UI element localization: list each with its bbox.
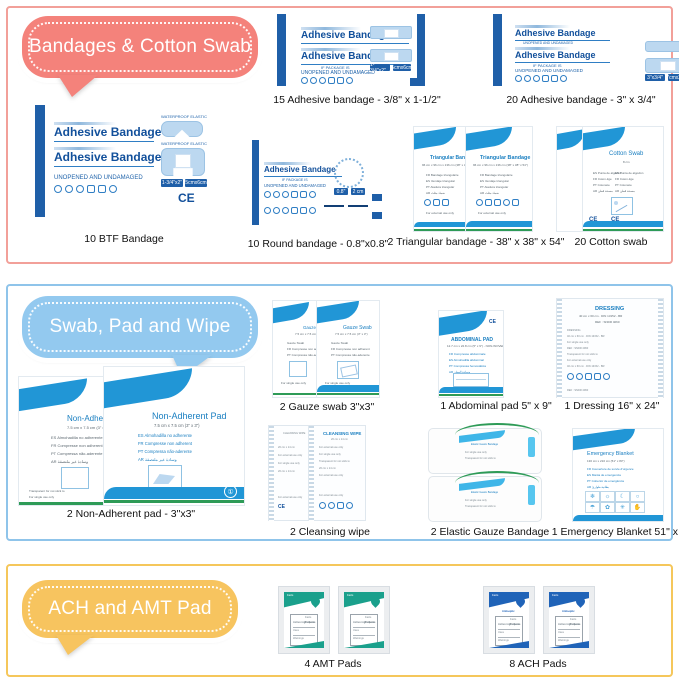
lang-pt: PT Cobertor de emergência bbox=[587, 479, 624, 483]
snowflake-icon: ❄ bbox=[585, 491, 600, 502]
uses-label: Uses bbox=[293, 629, 299, 632]
divider bbox=[54, 141, 154, 142]
flower-icon: ✿ bbox=[600, 502, 615, 513]
butterfly-bandage-shape bbox=[161, 121, 203, 137]
fineprint-line: Transparent for not stick to bbox=[567, 353, 598, 356]
ce-mark-icon: CE bbox=[178, 191, 195, 205]
care-symbols bbox=[54, 185, 117, 193]
serrated-edge-left bbox=[557, 299, 562, 399]
usage-note: For external use only bbox=[478, 211, 506, 215]
sachet-face: Facts Antiseptic Facts Active ingredient… bbox=[489, 592, 529, 648]
facts-box: Facts Active ingredients Purpose Uses Wa… bbox=[495, 616, 523, 646]
package-note-unopened: UNOPENED AND UNDAMAGED bbox=[515, 68, 583, 73]
lang-fr-left: FR Coton-tige bbox=[593, 177, 612, 181]
package-note-if: IF PACKAGE IS bbox=[282, 178, 308, 182]
package-title: Non-Adherent Pad bbox=[152, 411, 227, 421]
care-icon bbox=[512, 199, 519, 206]
pillow-pack: Elastic Gauze Bandage For single use onl… bbox=[428, 476, 542, 522]
care-icon bbox=[87, 185, 95, 193]
lang-ar: AR وسادة غير ملتصقة bbox=[138, 457, 177, 462]
care-icon bbox=[476, 199, 483, 206]
care-symbols bbox=[567, 373, 610, 380]
purpose-label: Purpose bbox=[305, 621, 315, 624]
lang-es: ES Almohadilla no adherente bbox=[51, 435, 103, 440]
lang-es: Gauze Swab bbox=[287, 341, 304, 345]
package-card-back: Non-Adherent Pad 7.5 cm x 7.5 cm (3" x 3… bbox=[18, 376, 110, 506]
care-icon bbox=[567, 373, 574, 380]
uses-label: Uses bbox=[498, 631, 504, 634]
package-note-unopened: UNOPENED AND UNDAMAGED bbox=[264, 183, 326, 188]
care-icon bbox=[309, 191, 316, 198]
package-title: Emergency Blanket bbox=[587, 451, 634, 457]
pillow-pack: Elastic Gauze Bandage For single use onl… bbox=[428, 428, 542, 474]
care-icon bbox=[319, 77, 326, 84]
brand-mark: Facts bbox=[287, 594, 293, 597]
lang-fr: FR Compresse non adherent bbox=[51, 443, 103, 448]
package-title: Cotton Swab bbox=[609, 151, 643, 157]
package-card: Cotton Swab 8 cm ES Punta de algodón ES … bbox=[582, 126, 664, 232]
package-size: 20 cm x 14 cm bbox=[331, 438, 348, 441]
lang-pt: PT Compressa hemostática bbox=[449, 364, 486, 368]
package-size: 12.7 cm x 22.8 cm (5" x 9") - NON-WOVEN bbox=[447, 344, 504, 348]
divider bbox=[301, 43, 409, 44]
product-8-ach-pads: Facts Antiseptic Facts Active ingredient… bbox=[483, 586, 601, 670]
rain-icon: ☂ bbox=[585, 502, 600, 513]
footer-green-line bbox=[104, 500, 244, 503]
product-caption: 1 Abdominal pad 5" x 9" bbox=[440, 400, 551, 412]
package-card: Adhesive Bandage Adhesive Bandage IF PAC… bbox=[277, 14, 432, 86]
serrated-edge-left bbox=[269, 426, 274, 522]
care-icon bbox=[291, 191, 298, 198]
lang-pt: PT Atadura triangular bbox=[480, 185, 508, 189]
bandage-pad bbox=[384, 52, 399, 61]
package-size: 96 cm x 96 cm x 136 cm (38" x 38" x 54") bbox=[473, 163, 528, 167]
section-title-bubble-ach: ACH and AMT Pad bbox=[22, 580, 238, 638]
moon-icon: ☾ bbox=[615, 491, 630, 502]
lang-es: ES Vendaje triangular bbox=[426, 179, 455, 183]
lang-pt: PT Compressa não-aderente bbox=[331, 353, 370, 357]
care-icon bbox=[551, 75, 558, 82]
circle-icon: ○ bbox=[630, 491, 645, 502]
product-name: Antiseptic bbox=[502, 610, 515, 613]
package-fineprint: UNOPENED AND UNDAMAGED bbox=[523, 41, 573, 45]
lang-pt: PT Compressa não-aderente bbox=[138, 449, 192, 454]
swab-tip bbox=[614, 201, 618, 205]
product-caption: 1 Dressing 16" x 24" bbox=[564, 400, 659, 412]
care-icon bbox=[109, 185, 117, 193]
facts-rule bbox=[558, 629, 580, 630]
care-icon bbox=[560, 75, 567, 82]
product-1-dressing: DRESSING 40 cm x 60 cm · DIN 13152 - BR … bbox=[556, 298, 674, 412]
product-4-amt-pads: Facts Facts Active ingredients Purpose U… bbox=[278, 586, 396, 670]
swab-stick bbox=[616, 205, 628, 212]
sachet-ach: Facts Antiseptic Facts Active ingredient… bbox=[483, 586, 535, 654]
size-swatch: 0.8" bbox=[334, 188, 348, 195]
lang-pt: PT Atadura triangular bbox=[426, 185, 454, 189]
care-icon bbox=[310, 77, 317, 84]
package-title: CLEANSING WIPE bbox=[283, 432, 305, 435]
size-swatch: 2 cm bbox=[351, 188, 365, 195]
product-1-emergency-blanket: Emergency Blanket 130 cm x 210 cm (51" x… bbox=[572, 428, 679, 536]
product-caption: 2 Gauze swab 3"x3" bbox=[280, 401, 374, 413]
divider bbox=[324, 205, 344, 207]
warnings-label: Warnings bbox=[353, 637, 364, 640]
size-swatch: 1-3/4"x2" bbox=[161, 179, 183, 187]
bandage-strip-shape bbox=[370, 49, 412, 62]
care-symbols bbox=[424, 199, 449, 206]
package-title: Gauze Swab bbox=[343, 325, 372, 331]
care-icon bbox=[282, 191, 289, 198]
package-note-unopened: UNOPENED AND UNDAMAGED bbox=[54, 175, 143, 181]
footer-swoosh bbox=[583, 221, 663, 227]
waterproof-label: WATERPROOF ELASTIC bbox=[161, 141, 207, 146]
package-card-back: Gauze Swab 7.5 cm x 7.5 cm (3" x 3") Gau… bbox=[272, 300, 322, 398]
lang-fr: FR Bandage triangulaire bbox=[480, 173, 513, 177]
gauze-shape bbox=[340, 364, 358, 377]
care-icon bbox=[485, 199, 492, 206]
facts-rule bbox=[558, 637, 580, 638]
bandage-strip-shape bbox=[645, 41, 679, 52]
lang-fr: FR Couverture de survie d'urgence bbox=[587, 467, 634, 471]
divider bbox=[54, 166, 154, 167]
product-caption: 1 Emergency Blanket 51" x 83" bbox=[552, 526, 679, 538]
size-block bbox=[372, 194, 382, 201]
size-block bbox=[372, 212, 382, 219]
care-icon bbox=[533, 75, 540, 82]
lang-ar: AR ضماد مثلث bbox=[426, 191, 445, 195]
lang-pt: PT Cotonete bbox=[615, 183, 632, 187]
care-symbols bbox=[319, 502, 353, 509]
fineprint-line: For single use only bbox=[465, 499, 487, 502]
care-icon bbox=[273, 207, 280, 214]
care-icon bbox=[328, 502, 335, 509]
package-spine bbox=[277, 14, 286, 86]
serrated-edge-right bbox=[658, 299, 663, 399]
section-title-bubble-bandages: Bandages & Cotton Swab bbox=[22, 16, 258, 78]
sachet-amt: Facts Facts Active ingredients Purpose U… bbox=[338, 586, 390, 654]
gauze-illustration bbox=[289, 361, 307, 377]
package-spine bbox=[252, 140, 259, 225]
pad-illustration bbox=[453, 373, 489, 387]
fineprint-line: For external use only bbox=[319, 474, 343, 477]
product-caption: 10 Round bandage - 0.8"x0.8" bbox=[248, 238, 389, 250]
swoosh-arc bbox=[413, 126, 471, 156]
package-size: 8 cm bbox=[623, 160, 630, 164]
bandage-pad bbox=[175, 154, 191, 168]
lang-fr: FR Compresse non adherent bbox=[331, 347, 370, 351]
care-icon bbox=[337, 77, 344, 84]
product-caption: 10 BTF Bandage bbox=[84, 233, 163, 245]
purpose-label: Purpose bbox=[365, 621, 375, 624]
package-card: Gauze Swab 7.5 cm x 7.5 cm (3" x 3") Gau… bbox=[316, 300, 380, 398]
care-icon bbox=[603, 373, 610, 380]
care-icon bbox=[503, 199, 510, 206]
product-caption: 20 Adhesive bandage - 3" x 3/4" bbox=[506, 94, 655, 106]
package-title: Adhesive Bandage bbox=[54, 150, 161, 164]
lang-pt: PT Compressa não-aderente bbox=[51, 451, 103, 456]
section-title-bandages: Bandages & Cotton Swab bbox=[29, 36, 251, 58]
lang-es: ES Manta de emergencia bbox=[587, 473, 621, 477]
ce-mark-icon: CE bbox=[278, 504, 285, 510]
ce-mark-icon: CE bbox=[489, 319, 496, 325]
fineprint-line: REF : SNDR 4060 bbox=[567, 347, 588, 350]
package-size: 40 cm x 60 cm · DIN 13152 - BR bbox=[579, 314, 622, 318]
package-title: Triangular Bandage bbox=[480, 155, 530, 161]
bubble-tail bbox=[58, 75, 98, 97]
care-icon bbox=[433, 199, 440, 206]
footer-swoosh bbox=[414, 222, 470, 227]
section-title-swab: Swab, Pad and Wipe bbox=[49, 316, 230, 338]
product-caption: 4 AMT Pads bbox=[304, 658, 361, 670]
footer-green-line bbox=[414, 229, 470, 231]
care-symbols bbox=[476, 199, 519, 206]
divider bbox=[348, 205, 368, 207]
footer-swoosh bbox=[317, 385, 379, 392]
lang-fr: FR Compresse non adherent bbox=[138, 441, 192, 446]
fineprint-line: 20 cm x 14 cm bbox=[278, 470, 295, 473]
care-symbols bbox=[264, 191, 316, 198]
package-title: Adhesive Bandage bbox=[264, 165, 336, 174]
care-icon bbox=[98, 185, 106, 193]
care-icon bbox=[515, 75, 522, 82]
product-10-btf-bandage: Adhesive Bandage Adhesive Bandage UNOPEN… bbox=[35, 105, 220, 250]
package-card: Adhesive Bandage Adhesive Bandage UNOPEN… bbox=[35, 105, 213, 217]
footer-swoosh bbox=[466, 221, 532, 227]
brand-mark: Facts bbox=[492, 594, 498, 597]
facts-rule bbox=[498, 629, 520, 630]
size-swatch: 5cmx6cm bbox=[185, 179, 207, 187]
care-icon bbox=[576, 373, 583, 380]
swoosh-shape bbox=[556, 129, 585, 151]
size-swatch: 1-3/4"x2" bbox=[370, 64, 390, 71]
purpose-label: Purpose bbox=[510, 623, 520, 626]
footer-swoosh bbox=[573, 515, 663, 521]
product-name: Antiseptic bbox=[562, 610, 575, 613]
pack-tab bbox=[528, 437, 535, 457]
purpose-label: Purpose bbox=[570, 623, 580, 626]
product-2-triangular-bandage: Triangular Bandage 96 cm x 96 cm x 136 c… bbox=[413, 126, 543, 251]
package-title: Adhesive Bandage bbox=[515, 28, 596, 38]
footer-green-line bbox=[317, 393, 379, 395]
divider bbox=[264, 176, 342, 177]
bandage-strip-shape bbox=[645, 58, 679, 73]
care-icon bbox=[273, 191, 280, 198]
facts-rule bbox=[293, 635, 315, 636]
package-size: 7.5 cm x 7.5 cm (3" x 3") bbox=[154, 423, 200, 428]
footer-green-line bbox=[466, 229, 532, 231]
package-card: DRESSING 40 cm x 60 cm · DIN 13152 - BR … bbox=[556, 298, 664, 398]
package-size: 7.5 cm x 7.5 cm (3" x 3") bbox=[335, 332, 368, 336]
product-caption: 8 ACH Pads bbox=[509, 658, 566, 670]
fineprint-line: DRESSING bbox=[567, 329, 581, 332]
bubble-tail bbox=[56, 635, 94, 655]
uses-label: Uses bbox=[558, 631, 564, 634]
size-swatch: 3"x3/4" bbox=[645, 74, 665, 81]
care-icon bbox=[309, 207, 316, 214]
care-icon bbox=[594, 373, 601, 380]
package-card: Adhesive Bandage IF PACKAGE IS UNOPENED … bbox=[252, 150, 382, 225]
fineprint-line: For external use only bbox=[278, 454, 302, 457]
care-icon bbox=[264, 207, 271, 214]
lang-fr: FR Coton-tige bbox=[615, 177, 634, 181]
brand-mark: Facts bbox=[552, 594, 558, 597]
size-swatch: 7cmx2cm bbox=[668, 74, 679, 81]
swab-illustration bbox=[611, 197, 633, 215]
size-swatch: 5cmx6cm bbox=[393, 64, 411, 71]
package-title: DRESSING bbox=[595, 306, 624, 312]
package-note: Transparent for not stick to bbox=[29, 489, 65, 493]
product-20-cotton-swab: Cotton Swab 8 cm ES Punta de algodón ES … bbox=[556, 126, 671, 251]
package-title: Adhesive Bandage bbox=[515, 50, 596, 60]
package-card-back: CLEANSING WIPE 20 cm x 14 cm For externa… bbox=[268, 425, 312, 521]
sachet-ach: Facts Antiseptic Facts Active ingredient… bbox=[543, 586, 595, 654]
package-title: Elastic Gauze Bandage bbox=[471, 443, 498, 446]
fineprint-line: For external use only bbox=[319, 446, 343, 449]
lang-ar: AR ضماد مثلث bbox=[480, 191, 499, 195]
lang-es: Gauze Swab bbox=[331, 341, 348, 345]
facts-title: Facts bbox=[570, 618, 576, 621]
usage-note: For external use only bbox=[319, 494, 343, 497]
package-card: Triangular Bandage 96 cm x 96 cm x 136 c… bbox=[465, 126, 533, 232]
serrated-edge-left bbox=[309, 426, 314, 522]
care-symbols bbox=[301, 77, 353, 84]
divider bbox=[515, 62, 610, 63]
facts-rule bbox=[498, 637, 520, 638]
fineprint-line: 40 cm x 60 cm · DIN 13152 - BR bbox=[567, 365, 604, 368]
usage-note: For external use only bbox=[426, 211, 454, 215]
package-spine bbox=[35, 105, 45, 217]
facts-box: Facts Active ingredients Purpose Uses Wa… bbox=[350, 614, 378, 646]
product-caption: 2 Non-Adherent pad - 3"x3" bbox=[67, 508, 195, 520]
product-2-elastic-gauze-bandage: Elastic Gauze Bandage For single use onl… bbox=[420, 428, 565, 536]
care-icon bbox=[65, 185, 73, 193]
product-2-cleansing-wipe: CLEANSING WIPE 20 cm x 14 cm For externa… bbox=[268, 425, 388, 537]
gauze-illustration bbox=[337, 361, 359, 379]
uses-label: Uses bbox=[353, 629, 359, 632]
product-1-abdominal-pad: CE ABDOMINAL PAD 12.7 cm x 22.8 cm (5" x… bbox=[438, 310, 556, 412]
fineprint-line: For single use only bbox=[567, 341, 589, 344]
package-spine-right bbox=[417, 14, 425, 86]
care-icon bbox=[337, 502, 344, 509]
usage-note: For external use only bbox=[278, 496, 302, 499]
pad-illustration bbox=[61, 467, 89, 489]
care-icon bbox=[542, 75, 549, 82]
package-title: Adhesive Bandage bbox=[54, 125, 161, 139]
swoosh-green-arc bbox=[18, 376, 110, 419]
product-2-gauze-swab: Gauze Swab 7.5 cm x 7.5 cm (3" x 3") Gau… bbox=[272, 300, 382, 412]
package-size: 130 cm x 210 cm (51" x 83") bbox=[587, 459, 625, 463]
facts-box: Facts Active ingredients Purpose Uses Wa… bbox=[290, 614, 318, 646]
product-20-adhesive-bandage: Adhesive Bandage UNOPENED AND UNDAMAGED … bbox=[493, 14, 668, 106]
product-contents-infographic: Bandages & Cotton Swab Adhesive Bandage … bbox=[0, 0, 679, 683]
care-icon bbox=[346, 502, 353, 509]
lang-ar-left: AR مسحة قطن bbox=[593, 189, 613, 193]
pack-tab bbox=[528, 485, 535, 505]
care-symbols bbox=[264, 207, 316, 214]
care-icon bbox=[76, 185, 84, 193]
product-caption: 2 Cleansing wipe bbox=[290, 526, 370, 538]
fineprint-line: 40 cm x 60 cm · DIN 13152 - BR bbox=[567, 335, 604, 338]
care-icon bbox=[442, 199, 449, 206]
waterproof-label: WATERPROOF ELASTIC bbox=[161, 114, 207, 119]
warnings-label: Warnings bbox=[498, 639, 509, 642]
lang-es: ES Punta de algodón bbox=[615, 171, 643, 175]
facts-box: Facts Active ingredients Purpose Uses Wa… bbox=[555, 616, 583, 646]
care-icon bbox=[494, 199, 501, 206]
footer-green-line bbox=[439, 394, 503, 396]
footer-swoosh bbox=[439, 387, 503, 393]
package-size: 96 cm x 96 cm x 136 cm (38" x 38" x 54") bbox=[422, 163, 471, 167]
single-use-icon: ① bbox=[224, 485, 237, 498]
fineprint-line: Transparent for not stick to bbox=[465, 457, 496, 460]
package-card: CE ABDOMINAL PAD 12.7 cm x 22.8 cm (5" x… bbox=[438, 310, 504, 398]
section-title-bubble-swab: Swab, Pad and Wipe bbox=[22, 296, 258, 358]
care-icon bbox=[300, 207, 307, 214]
product-caption: 20 Cotton swab bbox=[575, 236, 648, 248]
warnings-label: Warnings bbox=[558, 639, 569, 642]
package-title: ABDOMINAL PAD bbox=[451, 337, 493, 343]
package-ref: REF : SNDR 4060 bbox=[595, 320, 620, 324]
package-card: Non-Adherent Pad 7.5 cm x 7.5 cm (3" x 3… bbox=[103, 366, 245, 506]
care-icon bbox=[524, 75, 531, 82]
facts-rule bbox=[293, 627, 315, 628]
package-card: Triangular Bandage 96 cm x 96 cm x 136 c… bbox=[413, 126, 471, 232]
product-caption: 2 Triangular bandage - 38" x 38" x 54" bbox=[388, 236, 565, 248]
lang-es: ES Almohadilla no adherente bbox=[138, 433, 192, 438]
fineprint-line: 20 cm x 14 cm bbox=[278, 446, 295, 449]
care-icon bbox=[291, 207, 298, 214]
round-bandage-shape bbox=[334, 158, 364, 188]
package-card: CLEANSING WIPE 20 cm x 14 cm For externa… bbox=[308, 425, 366, 521]
care-icon bbox=[54, 185, 62, 193]
pad-line bbox=[456, 379, 486, 380]
bandage-pad bbox=[660, 61, 676, 71]
hand-icon: ✋ bbox=[630, 502, 645, 513]
package-title: CLEANSING WIPE bbox=[323, 431, 361, 436]
lang-pt-left: PT Cotonete bbox=[593, 183, 610, 187]
package-foot bbox=[410, 78, 425, 86]
fineprint-line: Transparent for not stick to bbox=[465, 505, 496, 508]
star-icon: ✳ bbox=[615, 502, 630, 513]
lang-ar: AR وسادة غير ملتصقة bbox=[51, 459, 88, 464]
footer-green-line bbox=[19, 502, 109, 505]
care-icon bbox=[300, 191, 307, 198]
usage-note: For single use only bbox=[281, 381, 306, 385]
lang-ar: AR بطانية طوارئ bbox=[587, 485, 609, 489]
swoosh-arc bbox=[272, 300, 322, 328]
footer-green-line bbox=[273, 393, 321, 395]
lang-fr: FR Bandage triangulaire bbox=[426, 173, 459, 177]
fineprint-line: 20 cm x 14 cm bbox=[319, 467, 336, 470]
package-spine bbox=[493, 14, 502, 86]
manufacturer-line: REF : SNDR 4060 bbox=[567, 389, 588, 392]
care-icon bbox=[585, 373, 592, 380]
facts-rule bbox=[353, 627, 375, 628]
pictogram-grid: ❄ ☼ ☾ ○ ☂ ✿ ✳ ✋ bbox=[585, 491, 645, 513]
fineprint-line: For single use only bbox=[465, 451, 487, 454]
sun-icon: ☼ bbox=[600, 491, 615, 502]
footer-swoosh bbox=[104, 487, 244, 499]
package-card: Adhesive Bandage UNOPENED AND UNDAMAGED … bbox=[493, 14, 643, 86]
care-icon bbox=[424, 199, 431, 206]
product-10-round-bandage: Adhesive Bandage IF PACKAGE IS UNOPENED … bbox=[252, 150, 392, 250]
sachet-face: Facts Antiseptic Facts Active ingredient… bbox=[549, 592, 589, 648]
pad-shape bbox=[153, 474, 175, 484]
facts-title: Facts bbox=[365, 616, 371, 619]
facts-rule bbox=[353, 635, 375, 636]
product-caption: 15 Adhesive bandage - 3/8" x 1-1/2" bbox=[273, 94, 440, 106]
fineprint-line: Transparent for not stick to bbox=[319, 460, 350, 463]
